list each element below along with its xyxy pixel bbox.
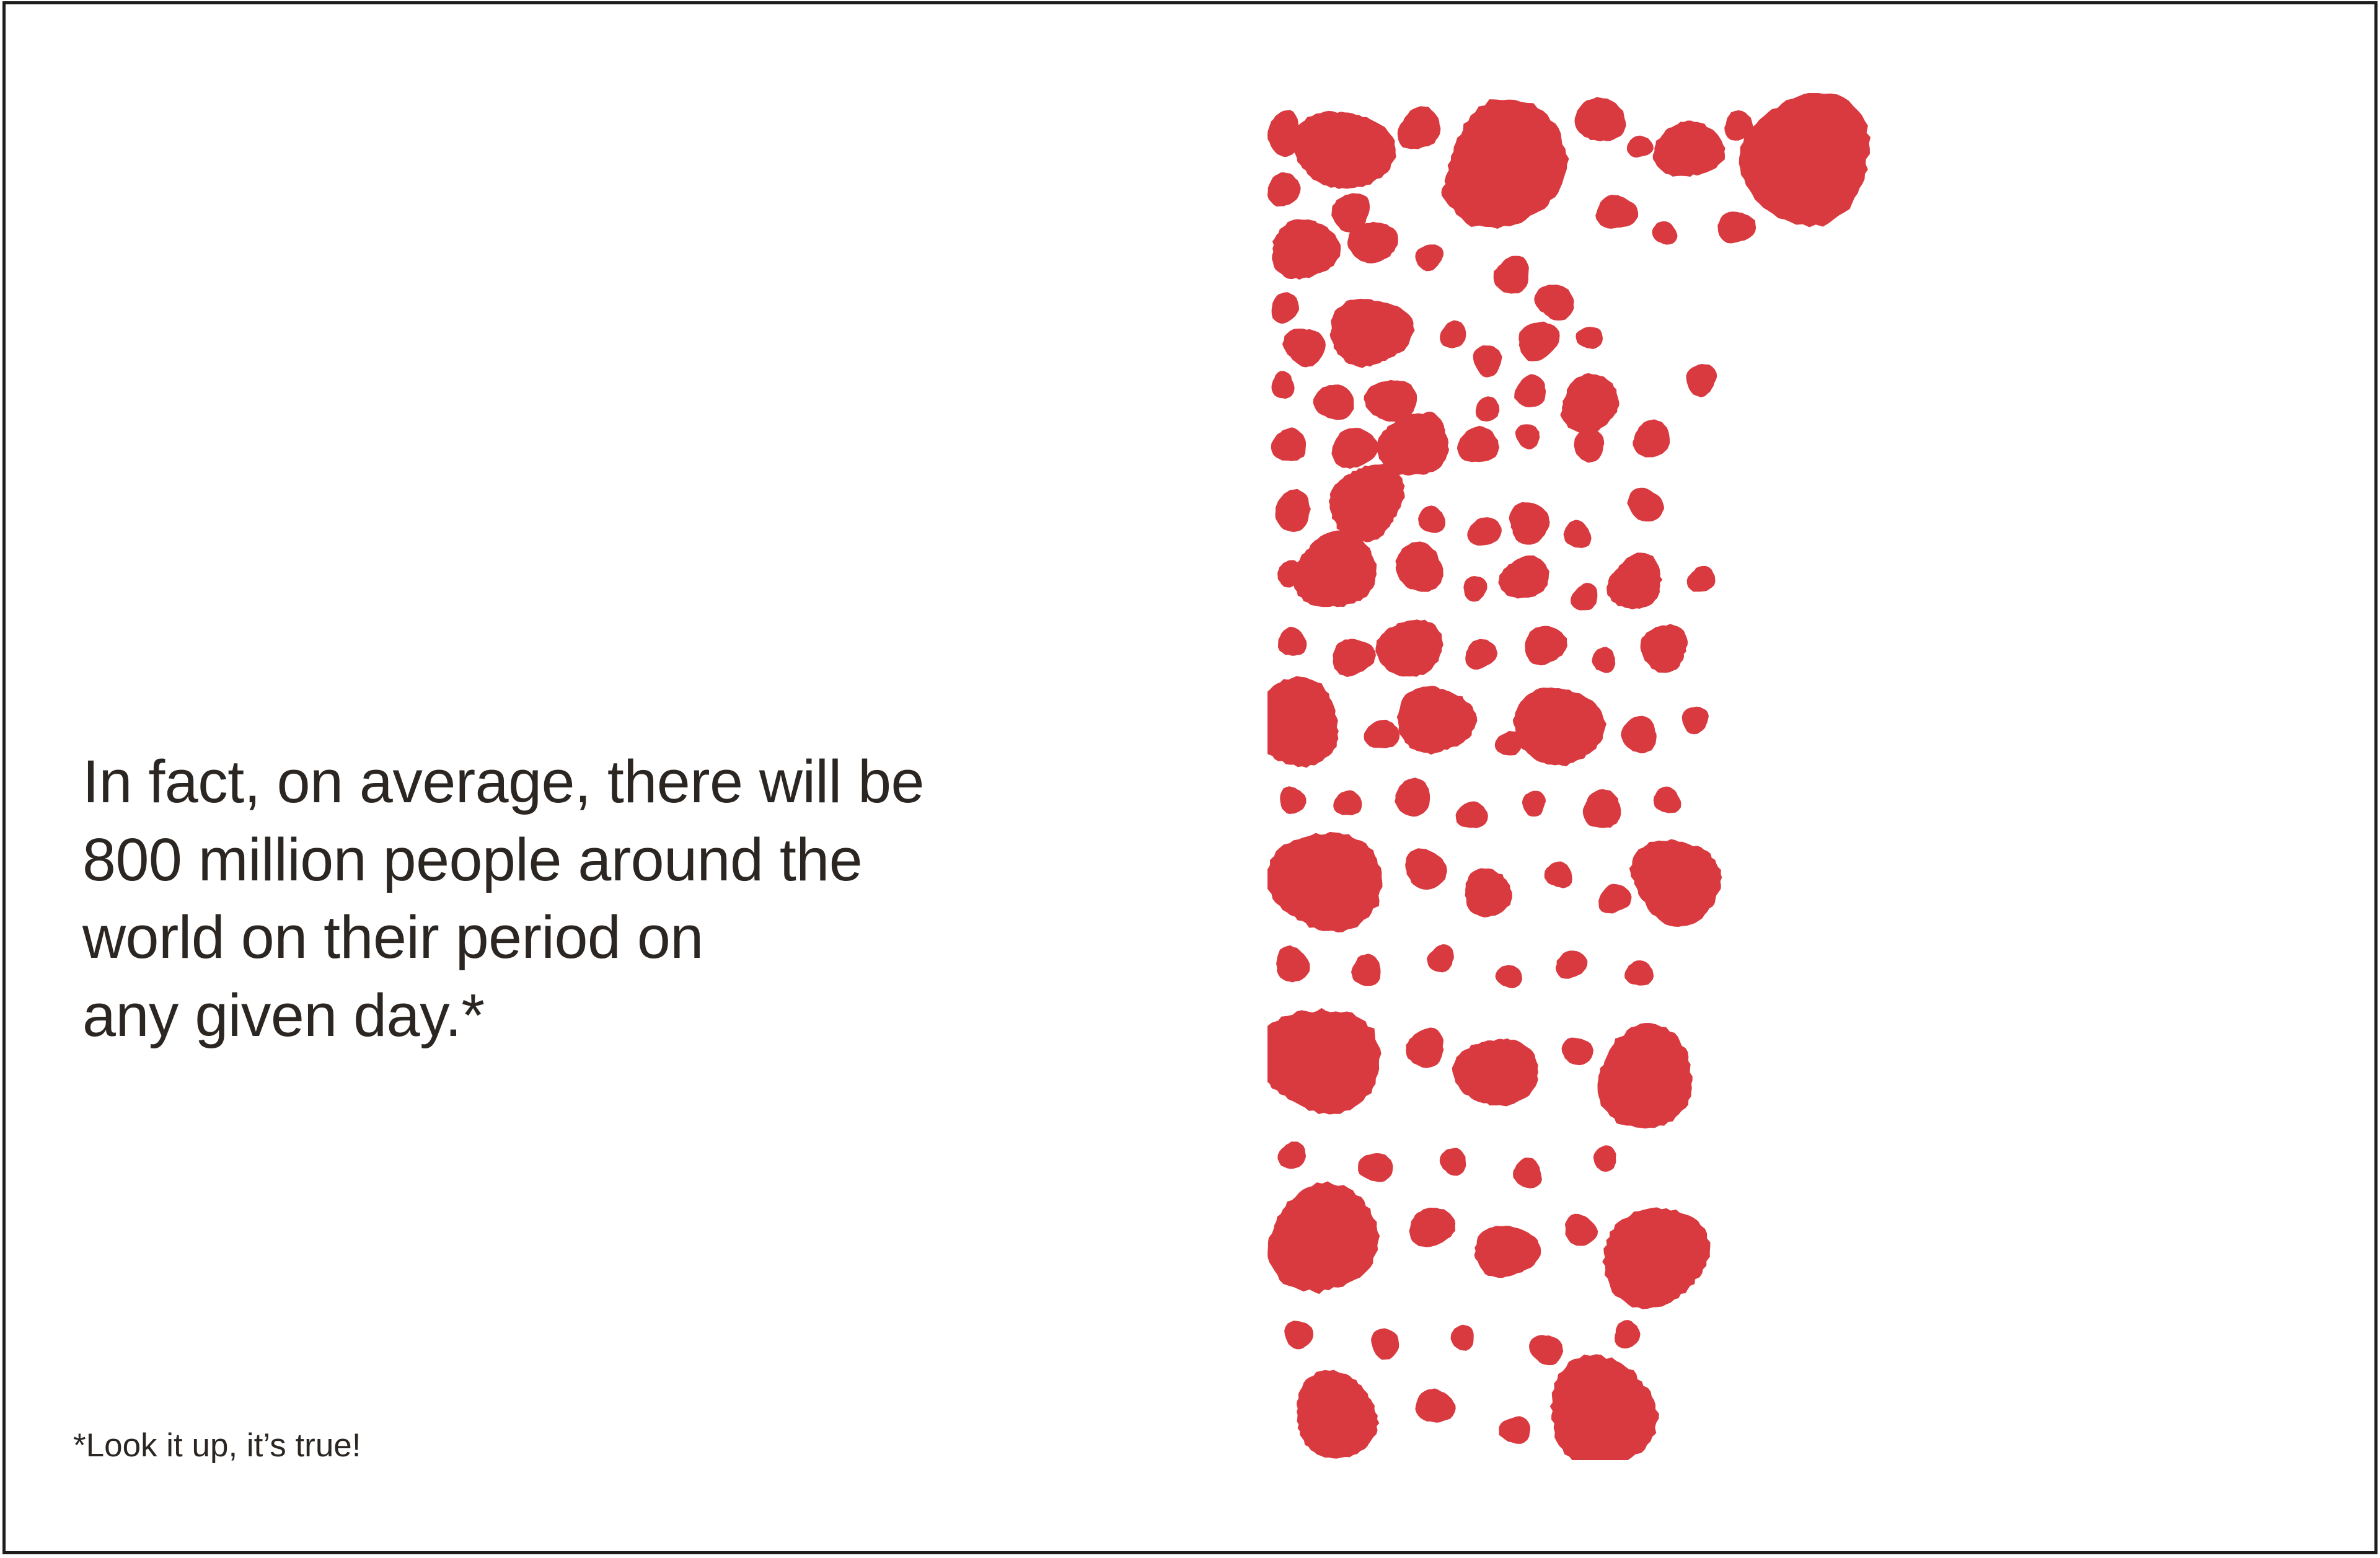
red-dot xyxy=(1395,541,1443,591)
red-dot xyxy=(1717,211,1756,243)
red-dot xyxy=(1329,464,1405,542)
red-dot xyxy=(1465,868,1512,917)
red-dot xyxy=(1277,1141,1306,1169)
red-dot xyxy=(1576,327,1603,349)
red-dot xyxy=(1278,627,1307,656)
red-dot xyxy=(1624,960,1654,986)
red-dot xyxy=(1440,321,1466,348)
red-dot xyxy=(1272,219,1341,280)
red-dot xyxy=(1451,1325,1474,1351)
red-dot xyxy=(1565,1214,1598,1246)
red-dot xyxy=(1652,221,1678,245)
red-dot xyxy=(1633,419,1670,457)
red-dot xyxy=(1739,93,1871,228)
red-dot xyxy=(1276,945,1310,983)
red-dot xyxy=(1682,707,1709,734)
red-dot xyxy=(1441,179,1470,211)
red-dot xyxy=(1465,639,1497,670)
red-dot xyxy=(1592,647,1616,673)
red-dot xyxy=(1525,626,1567,665)
red-dot xyxy=(1375,619,1443,676)
red-dot xyxy=(1333,639,1376,677)
red-dot xyxy=(1406,1027,1443,1068)
red-dot xyxy=(1267,1181,1380,1294)
red-dot xyxy=(1267,1008,1382,1115)
red-dot xyxy=(1333,790,1362,816)
red-dot xyxy=(1267,676,1339,768)
red-dot xyxy=(1654,787,1681,813)
red-dot xyxy=(1271,371,1294,399)
red-dot xyxy=(1513,688,1606,766)
headline-text: In fact, on average, there will be 800 m… xyxy=(82,743,1012,1054)
red-dot xyxy=(1513,1157,1542,1188)
red-dot xyxy=(1398,106,1441,149)
red-dot xyxy=(1602,1207,1710,1309)
red-dot xyxy=(1331,428,1378,469)
red-dot xyxy=(1606,552,1662,609)
red-dot xyxy=(1534,285,1574,321)
red-dot xyxy=(1397,686,1478,755)
red-dot xyxy=(1595,195,1638,229)
footnote-text: *Look it up, it’s true! xyxy=(73,1426,817,1466)
red-dot xyxy=(1271,427,1306,461)
red-dot xyxy=(1418,505,1445,533)
red-dot xyxy=(1495,965,1522,988)
red-dot xyxy=(1499,1416,1530,1444)
red-dot xyxy=(1440,1148,1466,1175)
red-dot xyxy=(1653,120,1725,177)
red-dot xyxy=(1545,861,1572,888)
red-dot xyxy=(1615,1320,1641,1348)
red-dot xyxy=(1571,583,1597,611)
red-dot xyxy=(1529,1335,1563,1365)
red-dot xyxy=(1364,720,1399,748)
slide-page: In fact, on average, there will be 800 m… xyxy=(0,0,2380,1558)
red-dot xyxy=(1550,1354,1659,1460)
red-dot xyxy=(1562,1038,1593,1065)
red-dot xyxy=(1409,1208,1455,1247)
red-dot xyxy=(1467,517,1502,546)
red-dot xyxy=(1395,777,1430,817)
red-dot xyxy=(1593,1145,1616,1172)
red-dot xyxy=(1267,832,1383,932)
red-dot xyxy=(1292,111,1396,189)
red-dot xyxy=(1627,488,1664,521)
red-dot xyxy=(1415,1388,1455,1422)
red-dot xyxy=(1313,384,1354,420)
red-dot xyxy=(1473,345,1502,378)
red-dot xyxy=(1456,801,1488,828)
red-dot xyxy=(1514,374,1546,407)
red-dot-pattern-illustration xyxy=(1267,93,2327,1460)
red-dot xyxy=(1474,1226,1541,1278)
red-dot xyxy=(1494,256,1529,294)
red-dot xyxy=(1330,299,1415,368)
red-dot xyxy=(1498,555,1549,599)
red-dot xyxy=(1358,1153,1393,1182)
red-dot xyxy=(1280,786,1306,814)
red-dot xyxy=(1415,244,1443,271)
red-dot xyxy=(1427,944,1454,972)
red-dot xyxy=(1297,1370,1380,1459)
red-dot xyxy=(1574,97,1626,141)
red-dot xyxy=(1627,136,1654,158)
red-dot xyxy=(1275,489,1311,532)
red-dot xyxy=(1292,530,1377,608)
red-dot xyxy=(1457,426,1499,463)
red-dot xyxy=(1598,1023,1693,1128)
red-dot xyxy=(1522,791,1546,817)
red-dot xyxy=(1351,954,1381,986)
red-dot xyxy=(1574,429,1604,463)
red-dot xyxy=(1405,848,1447,890)
red-dot xyxy=(1563,520,1591,548)
red-dot xyxy=(1583,789,1621,828)
red-dot xyxy=(1621,716,1656,753)
red-dot xyxy=(1371,1328,1399,1360)
red-dot xyxy=(1284,1321,1313,1349)
red-dot xyxy=(1476,396,1499,421)
red-dot xyxy=(1272,292,1300,324)
red-dot xyxy=(1560,373,1619,434)
red-dot xyxy=(1509,502,1550,545)
red-dot xyxy=(1518,322,1559,361)
red-dot xyxy=(1686,364,1717,397)
red-dot xyxy=(1282,329,1326,368)
red-dot xyxy=(1267,172,1301,206)
red-dot xyxy=(1629,839,1722,927)
red-dot xyxy=(1452,1038,1538,1106)
dot-pattern-canvas xyxy=(1267,93,2327,1460)
red-dot xyxy=(1556,950,1588,978)
red-dot xyxy=(1598,884,1631,914)
red-dot xyxy=(1687,566,1716,592)
red-dot xyxy=(1463,576,1487,601)
red-dot xyxy=(1641,624,1688,673)
red-dot xyxy=(1515,424,1540,449)
red-dot xyxy=(1377,414,1449,476)
